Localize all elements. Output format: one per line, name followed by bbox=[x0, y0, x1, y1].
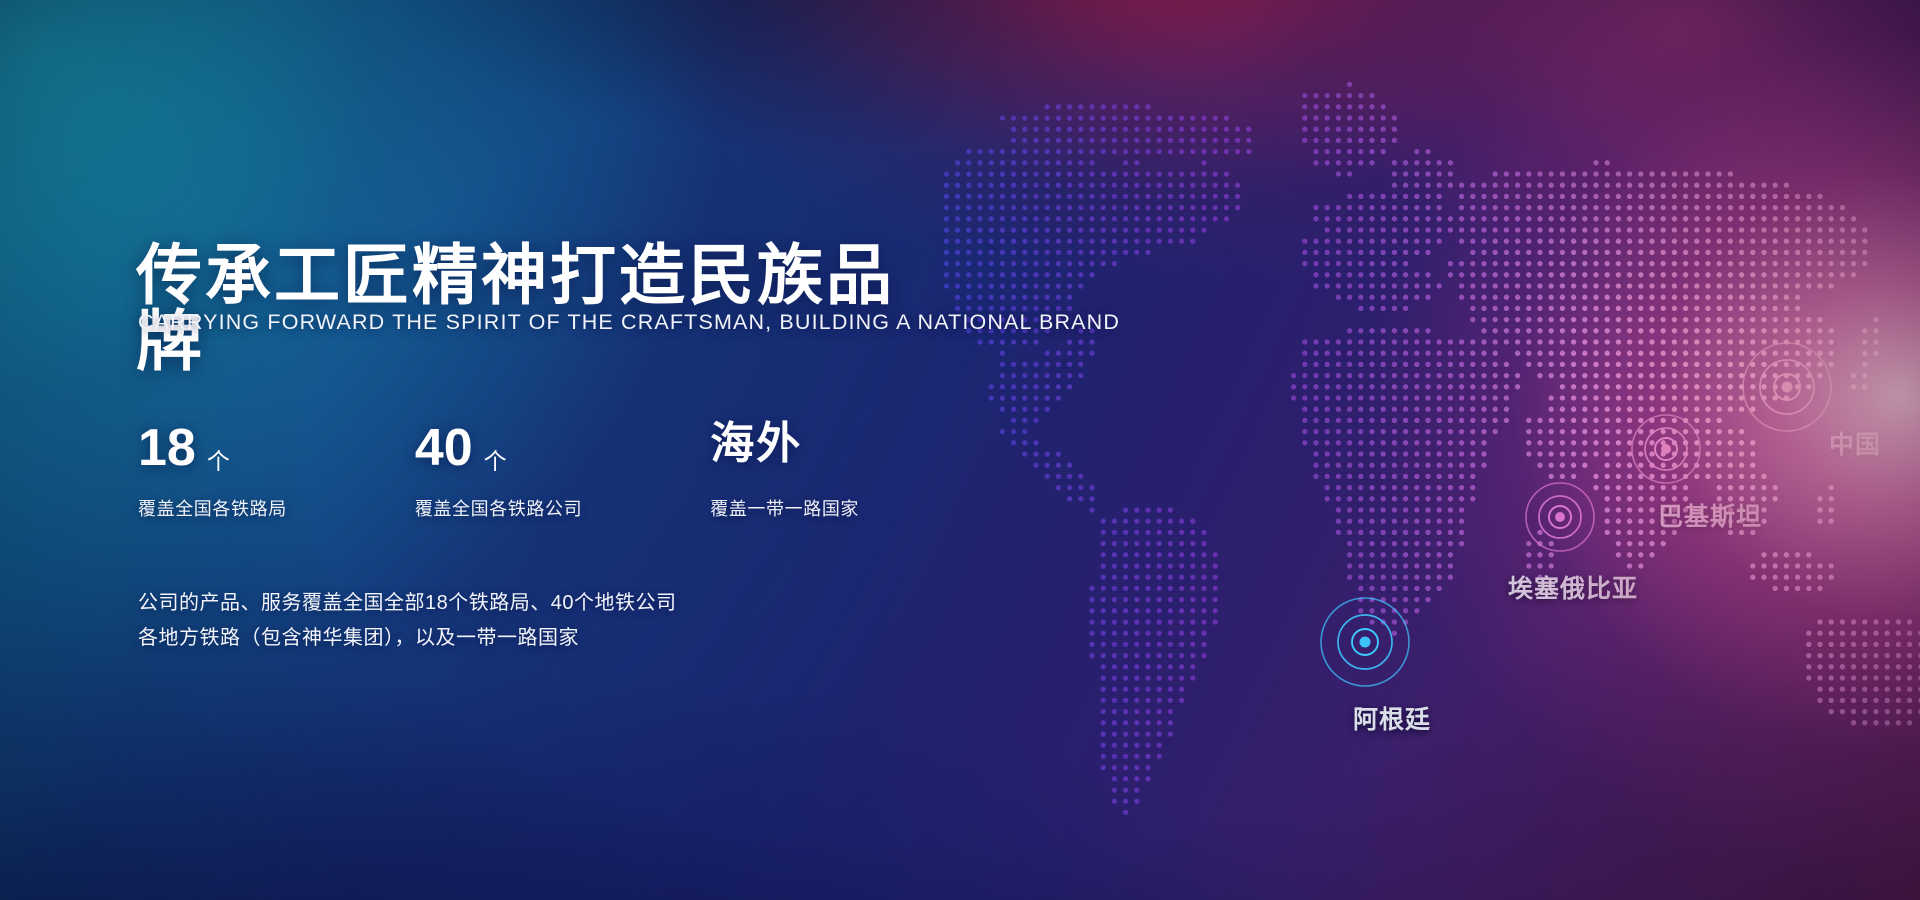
stat-value: 海外 bbox=[710, 422, 802, 466]
stat-item: 40个覆盖全国各铁路公司 bbox=[415, 422, 582, 521]
stat-description: 覆盖一带一路国家 bbox=[710, 495, 859, 521]
description-line-1: 公司的产品、服务覆盖全国全部18个铁路局、40个地铁公司 bbox=[138, 586, 677, 621]
description-paragraph: 公司的产品、服务覆盖全国全部18个铁路局、40个地铁公司 各地方铁路（包含神华集… bbox=[138, 586, 677, 656]
stat-value-row: 40个 bbox=[415, 422, 582, 482]
hero-content: 传承工匠精神打造民族品牌 CARRYING FORWARD THE SPIRIT… bbox=[0, 0, 900, 900]
stat-item: 18个覆盖全国各铁路局 bbox=[138, 422, 287, 521]
stat-value: 18 bbox=[138, 422, 196, 474]
stat-item: 海外覆盖一带一路国家 bbox=[710, 422, 859, 521]
stat-unit: 个 bbox=[484, 442, 507, 476]
stats-row: 18个覆盖全国各铁路局40个覆盖全国各铁路公司海外覆盖一带一路国家 bbox=[138, 422, 859, 521]
stat-description: 覆盖全国各铁路局 bbox=[138, 495, 287, 521]
stat-unit: 个 bbox=[207, 442, 230, 476]
description-line-2: 各地方铁路（包含神华集团），以及一带一路国家 bbox=[138, 621, 677, 656]
stat-value-row: 18个 bbox=[138, 422, 287, 482]
page-subtitle: CARRYING FORWARD THE SPIRIT OF THE CRAFT… bbox=[138, 310, 1120, 335]
hero-banner: 中国巴基斯坦埃塞俄比亚阿根廷 传承工匠精神打造民族品牌 CARRYING FOR… bbox=[0, 0, 1920, 900]
stat-value-row: 海外 bbox=[710, 422, 859, 482]
stat-description: 覆盖全国各铁路公司 bbox=[415, 495, 582, 521]
page-title: 传承工匠精神打造民族品牌 bbox=[136, 242, 900, 374]
stat-value: 40 bbox=[415, 422, 473, 474]
